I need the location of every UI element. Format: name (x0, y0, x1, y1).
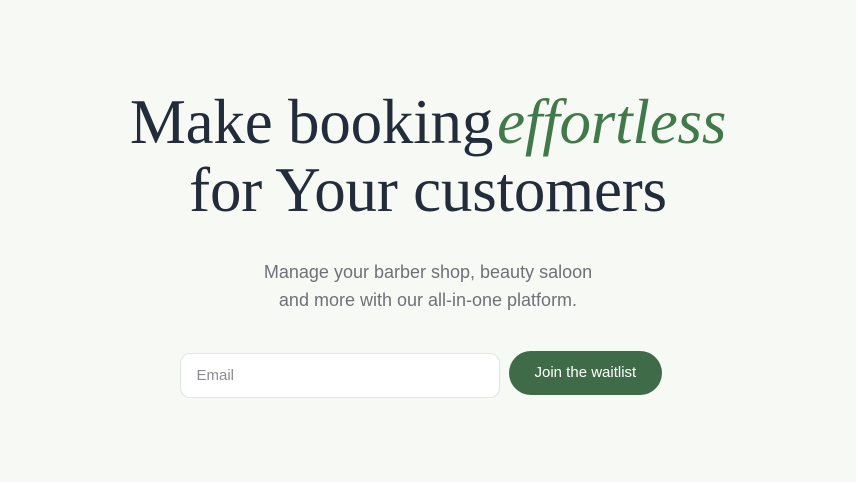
page-title: Make bookingeffortless for Your customer… (48, 88, 808, 224)
page-subtitle: Manage your barber shop, beauty saloon a… (264, 224, 592, 314)
headline-line-2: for Your customers (48, 156, 808, 224)
hero-section: Make bookingeffortless for Your customer… (0, 0, 856, 482)
subtitle-line-1: Manage your barber shop, beauty saloon (264, 258, 592, 286)
join-waitlist-button[interactable]: Join the waitlist (509, 351, 663, 395)
email-input[interactable] (180, 353, 500, 398)
subtitle-line-2: and more with our all-in-one platform. (264, 286, 592, 314)
headline-accent-word: effortless (493, 87, 726, 157)
waitlist-signup-form: Join the waitlist (180, 314, 677, 398)
headline-plain-text: Make booking (130, 87, 493, 157)
headline-line-1: Make bookingeffortless (130, 87, 726, 157)
